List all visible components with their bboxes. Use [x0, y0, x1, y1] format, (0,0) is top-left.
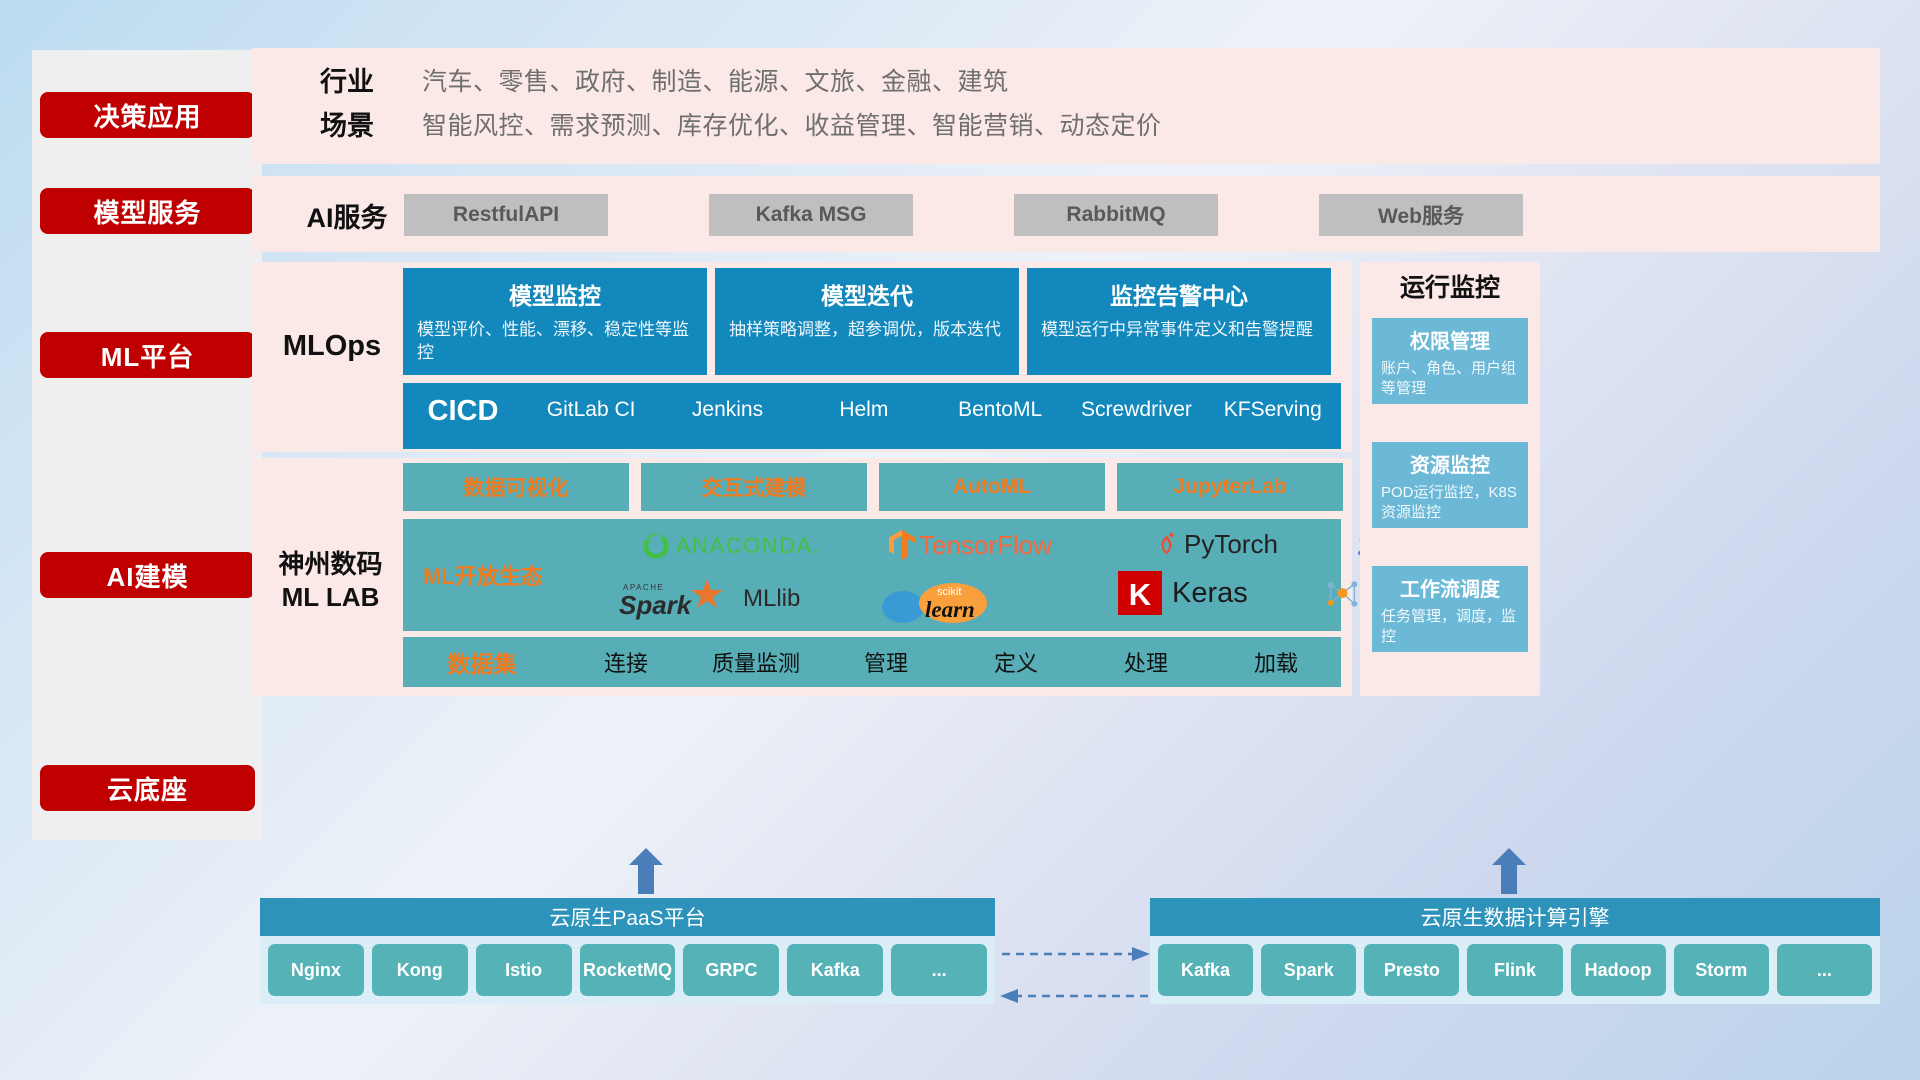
rail-tag-decision-app[interactable]: 决策应用 [40, 92, 255, 138]
tool-chip-data-visualization[interactable]: 数据可视化 [403, 463, 629, 511]
engine-chip-hadoop[interactable]: Hadoop [1571, 944, 1666, 996]
cloud-chip-kafka[interactable]: Kafka [787, 944, 883, 996]
ml-open-ecosystem-logos: ANACONDA. TensorFlow PyTorch [563, 519, 1341, 631]
ml-open-ecosystem-label: ML开放生态 [403, 559, 563, 591]
mllib-wordmark: MLlib [743, 585, 800, 613]
mlops-card-model-iteration[interactable]: 模型迭代 抽样策略调整，超参调优，版本迭代 [715, 268, 1019, 375]
run-monitor-card-resource[interactable]: 资源监控 POD运行监控，K8S资源监控 [1372, 442, 1528, 528]
ml-lab-tools: 数据可视化 交互式建模 AutoML JupyterLab [403, 463, 1343, 511]
arrow-up-data-engine-icon [1492, 848, 1526, 894]
dataset-item-connect[interactable]: 连接 [561, 646, 691, 678]
ai-service-items: RestfulAPI Kafka MSG RabbitMQ Web服务 [404, 194, 1860, 236]
engine-chip-kafka[interactable]: Kafka [1158, 944, 1253, 996]
ai-service-label: AI服务 [272, 196, 422, 235]
card-desc: POD运行监控，K8S资源监控 [1381, 483, 1519, 524]
cicd-item-kfserving[interactable]: KFServing [1205, 395, 1341, 423]
card-title: 模型监控 [417, 277, 693, 311]
cicd-items: GitLab CI Jenkins Helm BentoML Screwdriv… [523, 395, 1341, 423]
industry-label: 行业 [272, 60, 422, 99]
card-desc: 模型运行中异常事件定义和告警提醒 [1041, 319, 1317, 342]
card-title: 资源监控 [1381, 449, 1519, 478]
dataset-item-quality-monitor[interactable]: 质量监测 [691, 646, 821, 678]
pytorch-icon [1153, 530, 1180, 560]
keras-logo: K Keras [1118, 571, 1248, 615]
scikit-learn-logo: scikit learn [881, 577, 1006, 625]
scenario-row: 场景 智能风控、需求预测、库存优化、收益管理、智能营销、动态定价 [272, 104, 1162, 143]
cloud-data-engine-title: 云原生数据计算引擎 [1150, 898, 1880, 936]
dataset-item-manage[interactable]: 管理 [821, 646, 951, 678]
anaconda-wordmark: ANACONDA. [676, 533, 820, 559]
cicd-title: CICD [403, 395, 523, 428]
networkx-icon [1323, 577, 1362, 613]
ai-service-chip-kafka-msg[interactable]: Kafka MSG [709, 194, 913, 236]
engine-chip-flink[interactable]: Flink [1467, 944, 1562, 996]
keras-wordmark: Keras [1172, 577, 1248, 610]
card-desc: 抽样策略调整，超参调优，版本迭代 [729, 319, 1005, 342]
dataset-bar: 数据集 连接 质量监测 管理 定义 处理 加载 [403, 637, 1341, 687]
cloud-chip-rocketmq[interactable]: RocketMQ [580, 944, 676, 996]
cloud-chip-more[interactable]: ... [891, 944, 987, 996]
scenario-value: 智能风控、需求预测、库存优化、收益管理、智能营销、动态定价 [422, 106, 1162, 142]
svg-text:Spark: Spark [619, 590, 693, 620]
card-title: 工作流调度 [1381, 573, 1519, 602]
tool-chip-interactive-modeling[interactable]: 交互式建模 [641, 463, 867, 511]
anaconda-logo: ANACONDA. [641, 531, 820, 561]
ai-service-chip-restfulapi[interactable]: RestfulAPI [404, 194, 608, 236]
card-desc: 任务管理，调度，监控 [1381, 607, 1519, 648]
rail-tag-ai-modeling[interactable]: AI建模 [40, 552, 255, 598]
card-desc: 模型评价、性能、漂移、稳定性等监控 [417, 319, 693, 365]
dataset-item-process[interactable]: 处理 [1081, 646, 1211, 678]
tensorflow-icon [888, 529, 916, 561]
dataset-title: 数据集 [403, 645, 561, 679]
industry-value: 汽车、零售、政府、制造、能源、文旅、金融、建筑 [422, 62, 1009, 98]
mlops-card-model-monitoring[interactable]: 模型监控 模型评价、性能、漂移、稳定性等监控 [403, 268, 707, 375]
cloud-chip-nginx[interactable]: Nginx [268, 944, 364, 996]
run-monitor-card-workflow[interactable]: 工作流调度 任务管理，调度，监控 [1372, 566, 1528, 652]
mlops-cards: 模型监控 模型评价、性能、漂移、稳定性等监控 模型迭代 抽样策略调整，超参调优，… [403, 268, 1331, 375]
card-title: 监控告警中心 [1041, 277, 1317, 311]
card-title: 权限管理 [1381, 325, 1519, 354]
card-desc: 账户、角色、用户组等管理 [1381, 359, 1519, 400]
ml-lab-label-line1: 神州数码 [258, 548, 403, 581]
cloud-data-engine-chips: Kafka Spark Presto Flink Hadoop Storm ..… [1150, 936, 1880, 1004]
pytorch-wordmark: PyTorch [1184, 529, 1278, 560]
rail-tag-cloud-base[interactable]: 云底座 [40, 765, 255, 811]
dataset-items: 连接 质量监测 管理 定义 处理 加载 [561, 646, 1341, 678]
cicd-bar: CICD GitLab CI Jenkins Helm BentoML Scre… [403, 383, 1341, 449]
tensorflow-wordmark: TensorFlow [919, 530, 1052, 561]
dataset-item-load[interactable]: 加载 [1211, 646, 1341, 678]
svg-text:learn: learn [925, 597, 975, 622]
engine-chip-spark[interactable]: Spark [1261, 944, 1356, 996]
cloud-chip-kong[interactable]: Kong [372, 944, 468, 996]
cicd-item-screwdriver[interactable]: Screwdriver [1068, 395, 1204, 423]
bidirectional-link-icon [1000, 940, 1150, 1010]
scikit-learn-icon: scikit learn [881, 577, 1006, 625]
ai-service-chip-rabbitmq[interactable]: RabbitMQ [1014, 194, 1218, 236]
cloud-paas-title: 云原生PaaS平台 [260, 898, 995, 936]
ml-open-ecosystem: ML开放生态 ANACONDA. TensorFlow [403, 519, 1341, 631]
anaconda-icon [641, 531, 671, 561]
cloud-chip-grpc[interactable]: GRPC [683, 944, 779, 996]
cloud-chip-istio[interactable]: Istio [476, 944, 572, 996]
cloud-paas-chips: Nginx Kong Istio RocketMQ GRPC Kafka ... [260, 936, 995, 1004]
engine-chip-storm[interactable]: Storm [1674, 944, 1769, 996]
cicd-item-gitlab-ci[interactable]: GitLab CI [523, 395, 659, 423]
cloud-paas-group: 云原生PaaS平台 Nginx Kong Istio RocketMQ GRPC… [260, 898, 995, 1004]
ml-lab-label: 神州数码 ML LAB [258, 548, 403, 613]
cicd-item-jenkins[interactable]: Jenkins [659, 395, 795, 423]
svg-text:K: K [1129, 577, 1152, 612]
cicd-item-helm[interactable]: Helm [796, 395, 932, 423]
dataset-item-define[interactable]: 定义 [951, 646, 1081, 678]
cloud-data-engine-group: 云原生数据计算引擎 Kafka Spark Presto Flink Hadoo… [1150, 898, 1880, 1004]
run-monitor-card-permission[interactable]: 权限管理 账户、角色、用户组等管理 [1372, 318, 1528, 404]
run-monitor-title: 运行监控 [1360, 268, 1540, 304]
rail-tag-model-service[interactable]: 模型服务 [40, 188, 255, 234]
engine-chip-more[interactable]: ... [1777, 944, 1872, 996]
tensorflow-logo: TensorFlow [888, 529, 1052, 561]
spark-icon: APACHE Spark [619, 577, 739, 621]
pytorch-logo: PyTorch [1153, 529, 1278, 560]
spark-mllib-logo: APACHE Spark MLlib [619, 577, 800, 621]
mlops-card-alert-center[interactable]: 监控告警中心 模型运行中异常事件定义和告警提醒 [1027, 268, 1331, 375]
arrow-up-paas-icon [629, 848, 663, 894]
architecture-diagram: 决策应用 模型服务 ML平台 AI建模 云底座 行业 汽车、零售、政府、制造、能… [0, 0, 1920, 1080]
rail-tag-ml-platform[interactable]: ML平台 [40, 332, 255, 378]
industry-row: 行业 汽车、零售、政府、制造、能源、文旅、金融、建筑 [272, 60, 1009, 99]
left-rail [32, 50, 262, 840]
cicd-item-bentoml[interactable]: BentoML [932, 395, 1068, 423]
tool-chip-automl[interactable]: AutoML [879, 463, 1105, 511]
ml-lab-label-line2: ML LAB [258, 581, 403, 614]
ai-service-chip-web[interactable]: Web服务 [1319, 194, 1523, 236]
tool-chip-jupyterlab[interactable]: JupyterLab [1117, 463, 1343, 511]
keras-icon: K [1118, 571, 1162, 615]
mlops-label: MLOps [262, 330, 402, 363]
scenario-label: 场景 [272, 104, 422, 143]
card-title: 模型迭代 [729, 277, 1005, 311]
engine-chip-presto[interactable]: Presto [1364, 944, 1459, 996]
